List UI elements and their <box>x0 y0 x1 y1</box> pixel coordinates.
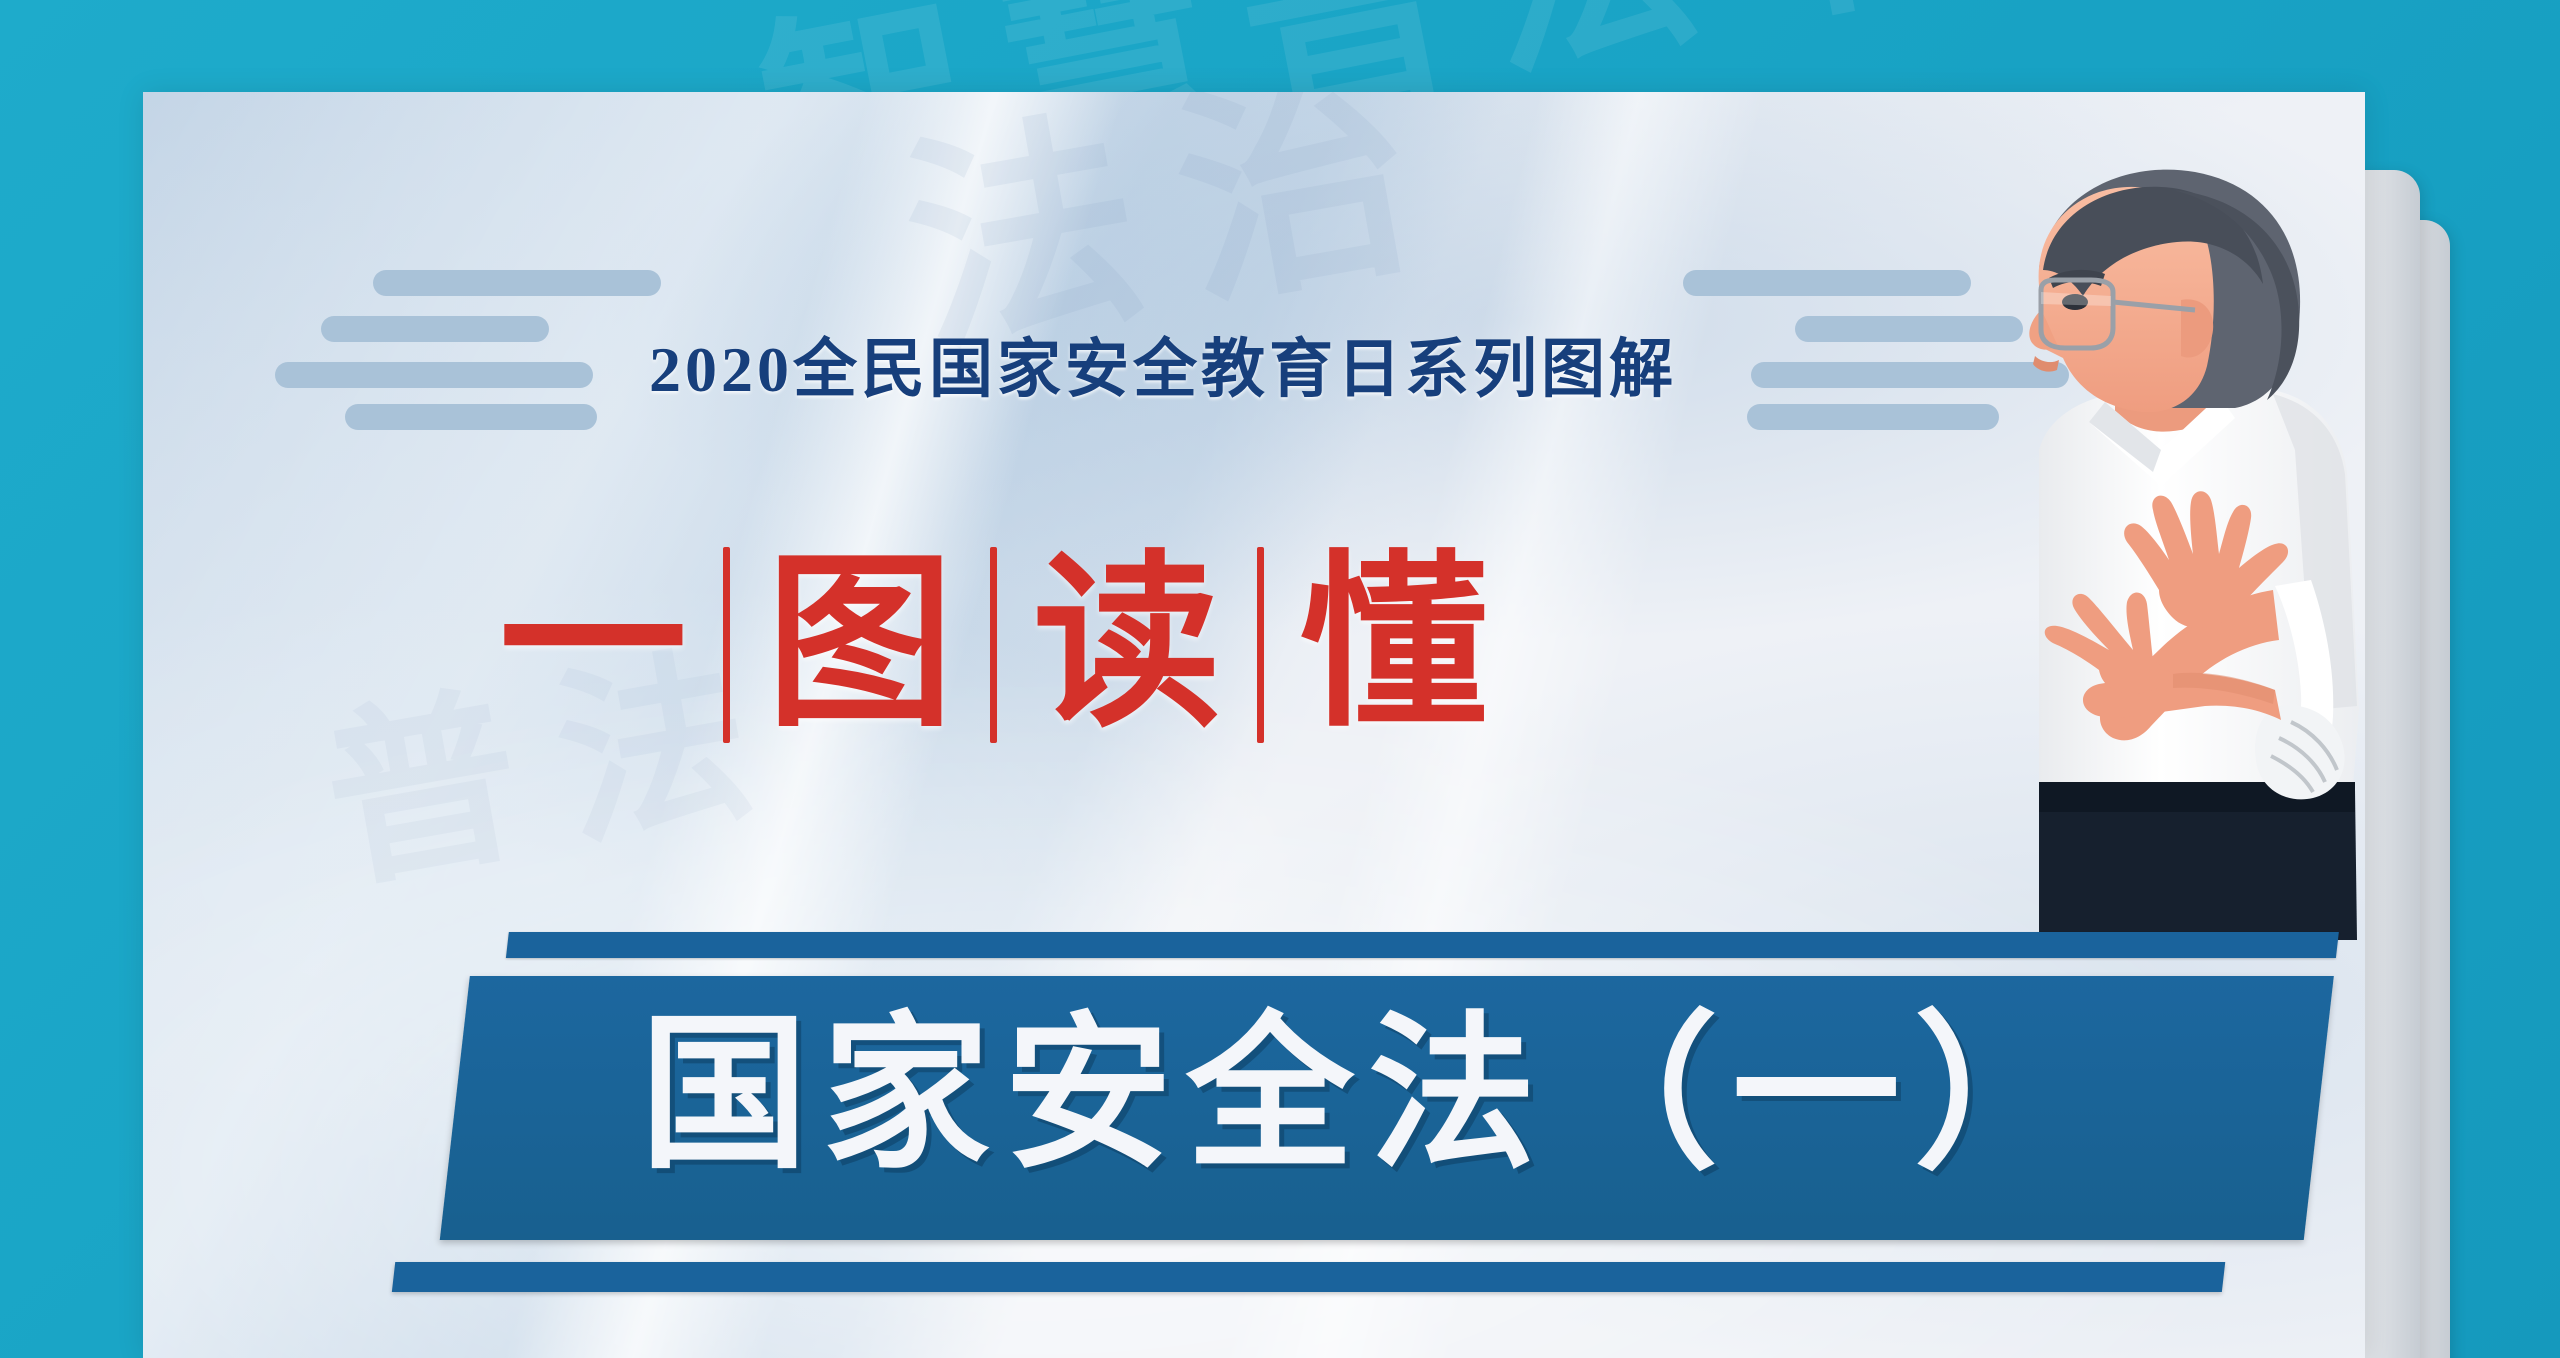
headline-char: 一 <box>473 551 713 739</box>
headline-separator <box>723 547 730 743</box>
headline-separator <box>990 547 997 743</box>
poster-canvas: 智慧普法平 法治网 智慧普法平台 法治 法治 普法 2020全民国家安全教育日系… <box>0 0 2560 1358</box>
poster-subtitle: 2020全民国家安全教育日系列图解 <box>573 318 1753 410</box>
poster-headline: 一 图 读 懂 <box>473 547 1514 743</box>
headline-char: 图 <box>740 551 980 739</box>
headline-separator <box>1257 547 1264 743</box>
headline-char: 读 <box>1007 551 1247 739</box>
banner-panel <box>440 976 2334 1240</box>
banner-group <box>353 932 2365 1352</box>
poster-card: 法治 普法 2020全民国家安全教育日系列图解 一 图 读 懂 <box>143 92 2365 1358</box>
headline-char: 懂 <box>1274 551 1514 739</box>
speaker-illustration-icon <box>1843 150 2365 940</box>
banner-bottom-rule <box>392 1262 2225 1292</box>
banner-top-rule <box>506 932 2339 958</box>
